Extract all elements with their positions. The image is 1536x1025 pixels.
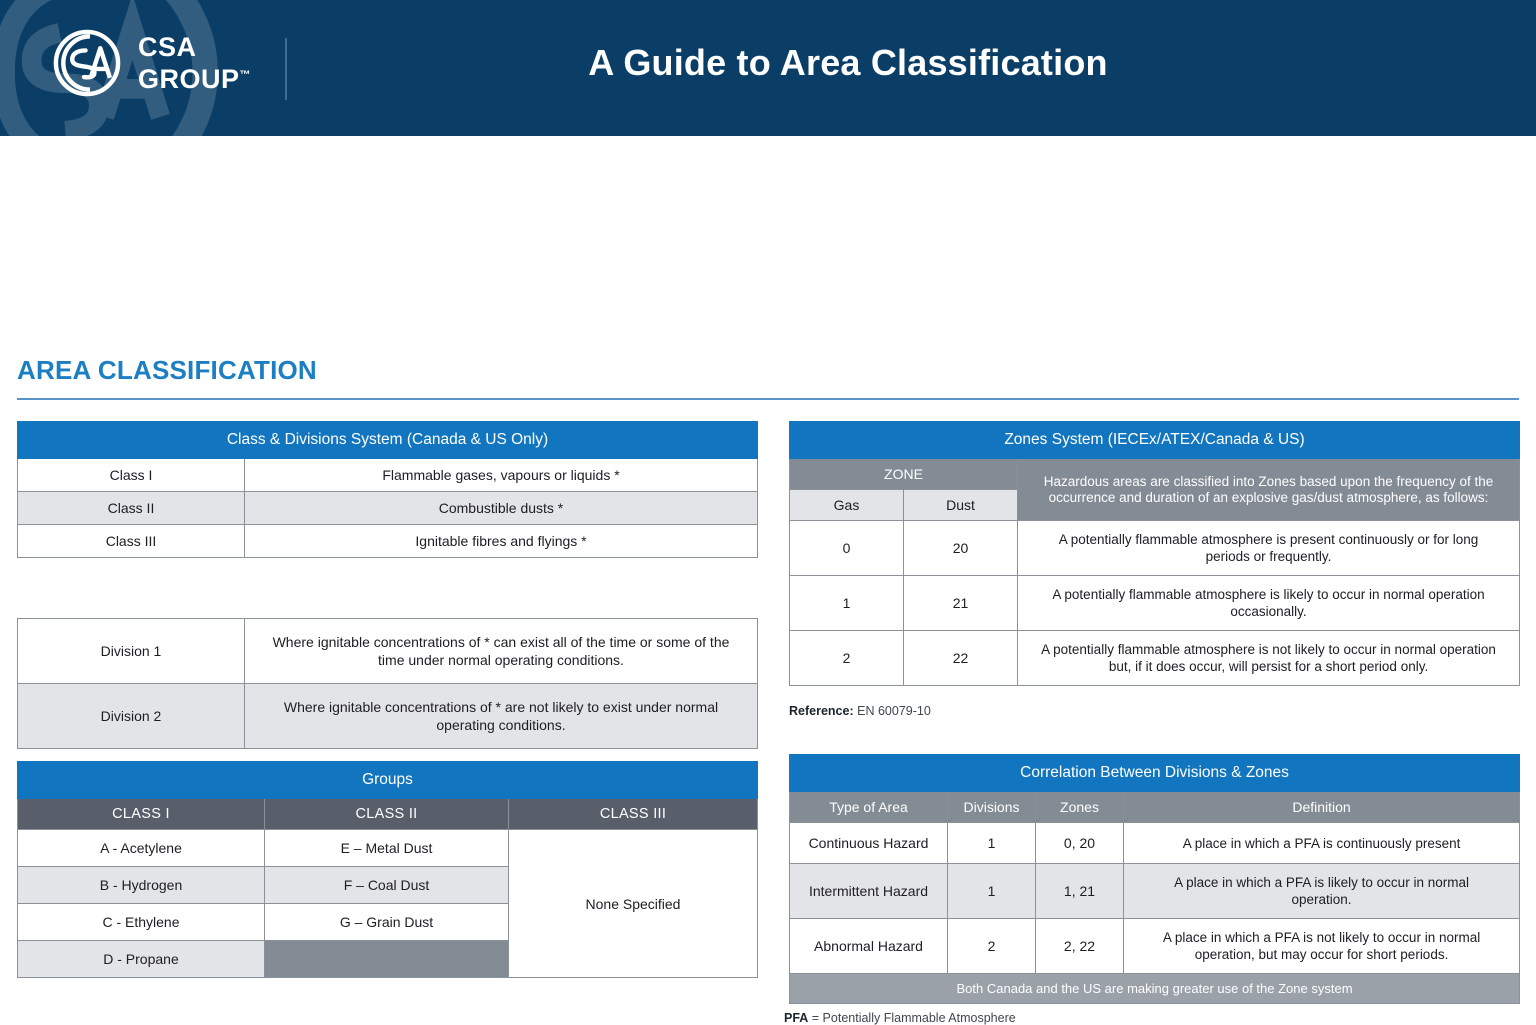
groups-table-title: Groups: [18, 762, 758, 799]
correlation-column-definition: Definition: [1124, 792, 1520, 823]
table-note-row: Both Canada and the US are making greate…: [790, 974, 1520, 1004]
reference-label: Reference:: [789, 704, 854, 718]
class-label: Class I: [18, 459, 245, 492]
reference-value: EN 60079-10: [857, 704, 931, 718]
groups-table: Groups CLASS I CLASS II CLASS III A - Ac…: [17, 761, 758, 978]
table-row: Abnormal Hazard 2 2, 22 A place in which…: [790, 919, 1520, 974]
page-header: CSA GROUP™ A Guide to Area Classificatio…: [0, 0, 1536, 136]
correlation-zones: 2, 22: [1036, 919, 1124, 974]
correlation-divisions: 1: [948, 823, 1036, 864]
group-class1-item: C - Ethylene: [18, 904, 265, 941]
table-row: A - Acetylene E – Metal Dust None Specif…: [18, 830, 758, 867]
zone-gas-value: 2: [790, 631, 904, 686]
table-row: 1 21 A potentially flammable atmosphere …: [790, 576, 1520, 631]
table-row: Class II Combustible dusts *: [18, 492, 758, 525]
correlation-zones: 1, 21: [1036, 864, 1124, 919]
group-class2-item: G – Grain Dust: [265, 904, 509, 941]
group-class1-item: B - Hydrogen: [18, 867, 265, 904]
class-description: Ignitable fibres and flyings *: [245, 525, 758, 558]
table-row: Division 2 Where ignitable concentration…: [18, 684, 758, 749]
table-header-row: Type of Area Divisions Zones Definition: [790, 792, 1520, 823]
page-title: A Guide to Area Classification: [0, 42, 1536, 84]
group-class3-value: None Specified: [509, 830, 758, 978]
correlation-table: Correlation Between Divisions & Zones Ty…: [789, 754, 1520, 1004]
table-title-row: Groups: [18, 762, 758, 799]
correlation-column-zones: Zones: [1036, 792, 1124, 823]
groups-column-class2: CLASS II: [265, 799, 509, 830]
group-class1-item: A - Acetylene: [18, 830, 265, 867]
correlation-definition: A place in which a PFA is likely to occu…: [1124, 864, 1520, 919]
correlation-definition: A place in which a PFA is not likely to …: [1124, 919, 1520, 974]
group-class2-item: F – Coal Dust: [265, 867, 509, 904]
table-row: Continuous Hazard 1 0, 20 A place in whi…: [790, 823, 1520, 864]
table-title-row: Class & Divisions System (Canada & US On…: [18, 422, 758, 459]
class-description: Combustible dusts *: [245, 492, 758, 525]
zones-reference-note: Reference: EN 60079-10: [789, 704, 931, 718]
correlation-divisions: 2: [948, 919, 1036, 974]
class-description: Flammable gases, vapours or liquids *: [245, 459, 758, 492]
table-title-row: Correlation Between Divisions & Zones: [790, 755, 1520, 792]
zone-description: A potentially flammable atmosphere is no…: [1018, 631, 1520, 686]
correlation-area: Intermittent Hazard: [790, 864, 948, 919]
table-row: 0 20 A potentially flammable atmosphere …: [790, 521, 1520, 576]
zone-header: ZONE: [790, 459, 1018, 490]
divisions-table: Division 1 Where ignitable concentration…: [17, 618, 758, 749]
correlation-column-type: Type of Area: [790, 792, 948, 823]
correlation-definition: A place in which a PFA is continuously p…: [1124, 823, 1520, 864]
table-header-row: ZONE Hazardous areas are classified into…: [790, 459, 1520, 490]
zone-gas-header: Gas: [790, 490, 904, 521]
correlation-zones: 0, 20: [1036, 823, 1124, 864]
groups-column-class3: CLASS III: [509, 799, 758, 830]
class-table-title: Class & Divisions System (Canada & US On…: [18, 422, 758, 459]
zone-gas-value: 1: [790, 576, 904, 631]
correlation-column-divisions: Divisions: [948, 792, 1036, 823]
division-description: Where ignitable concentrations of * are …: [245, 684, 758, 749]
table-title-row: Zones System (IECEx/ATEX/Canada & US): [790, 422, 1520, 459]
correlation-area: Continuous Hazard: [790, 823, 948, 864]
pfa-abbreviation: PFA: [784, 1011, 808, 1025]
zone-gas-value: 0: [790, 521, 904, 576]
division-label: Division 1: [18, 619, 245, 684]
table-row: Class I Flammable gases, vapours or liqu…: [18, 459, 758, 492]
table-row: Intermittent Hazard 1 1, 21 A place in w…: [790, 864, 1520, 919]
zone-dust-value: 22: [904, 631, 1018, 686]
zone-description: A potentially flammable atmosphere is pr…: [1018, 521, 1520, 576]
zones-table-title: Zones System (IECEx/ATEX/Canada & US): [790, 422, 1520, 459]
section-divider: [17, 398, 1519, 400]
correlation-area: Abnormal Hazard: [790, 919, 948, 974]
section-heading: AREA CLASSIFICATION: [17, 355, 317, 386]
group-class2-item: E – Metal Dust: [265, 830, 509, 867]
groups-column-class1: CLASS I: [18, 799, 265, 830]
table-row: Class III Ignitable fibres and flyings *: [18, 525, 758, 558]
table-row: Division 1 Where ignitable concentration…: [18, 619, 758, 684]
class-label: Class II: [18, 492, 245, 525]
division-label: Division 2: [18, 684, 245, 749]
correlation-table-title: Correlation Between Divisions & Zones: [790, 755, 1520, 792]
class-divisions-table: Class & Divisions System (Canada & US On…: [17, 421, 758, 558]
zone-dust-value: 21: [904, 576, 1018, 631]
group-class1-item: D - Propane: [18, 941, 265, 978]
table-header-row: CLASS I CLASS II CLASS III: [18, 799, 758, 830]
division-description: Where ignitable concentrations of * can …: [245, 619, 758, 684]
zones-system-table: Zones System (IECEx/ATEX/Canada & US) ZO…: [789, 421, 1520, 686]
pfa-definition: = Potentially Flammable Atmosphere: [808, 1011, 1015, 1025]
pfa-footnote: PFA = Potentially Flammable Atmosphere: [784, 1011, 1016, 1025]
zone-dust-value: 20: [904, 521, 1018, 576]
correlation-divisions: 1: [948, 864, 1036, 919]
zone-description: A potentially flammable atmosphere is li…: [1018, 576, 1520, 631]
group-class2-empty-cell: [265, 941, 509, 978]
zones-intro-text: Hazardous areas are classified into Zone…: [1018, 459, 1520, 521]
zone-dust-header: Dust: [904, 490, 1018, 521]
table-row: 2 22 A potentially flammable atmosphere …: [790, 631, 1520, 686]
class-label: Class III: [18, 525, 245, 558]
correlation-note: Both Canada and the US are making greate…: [790, 974, 1520, 1004]
